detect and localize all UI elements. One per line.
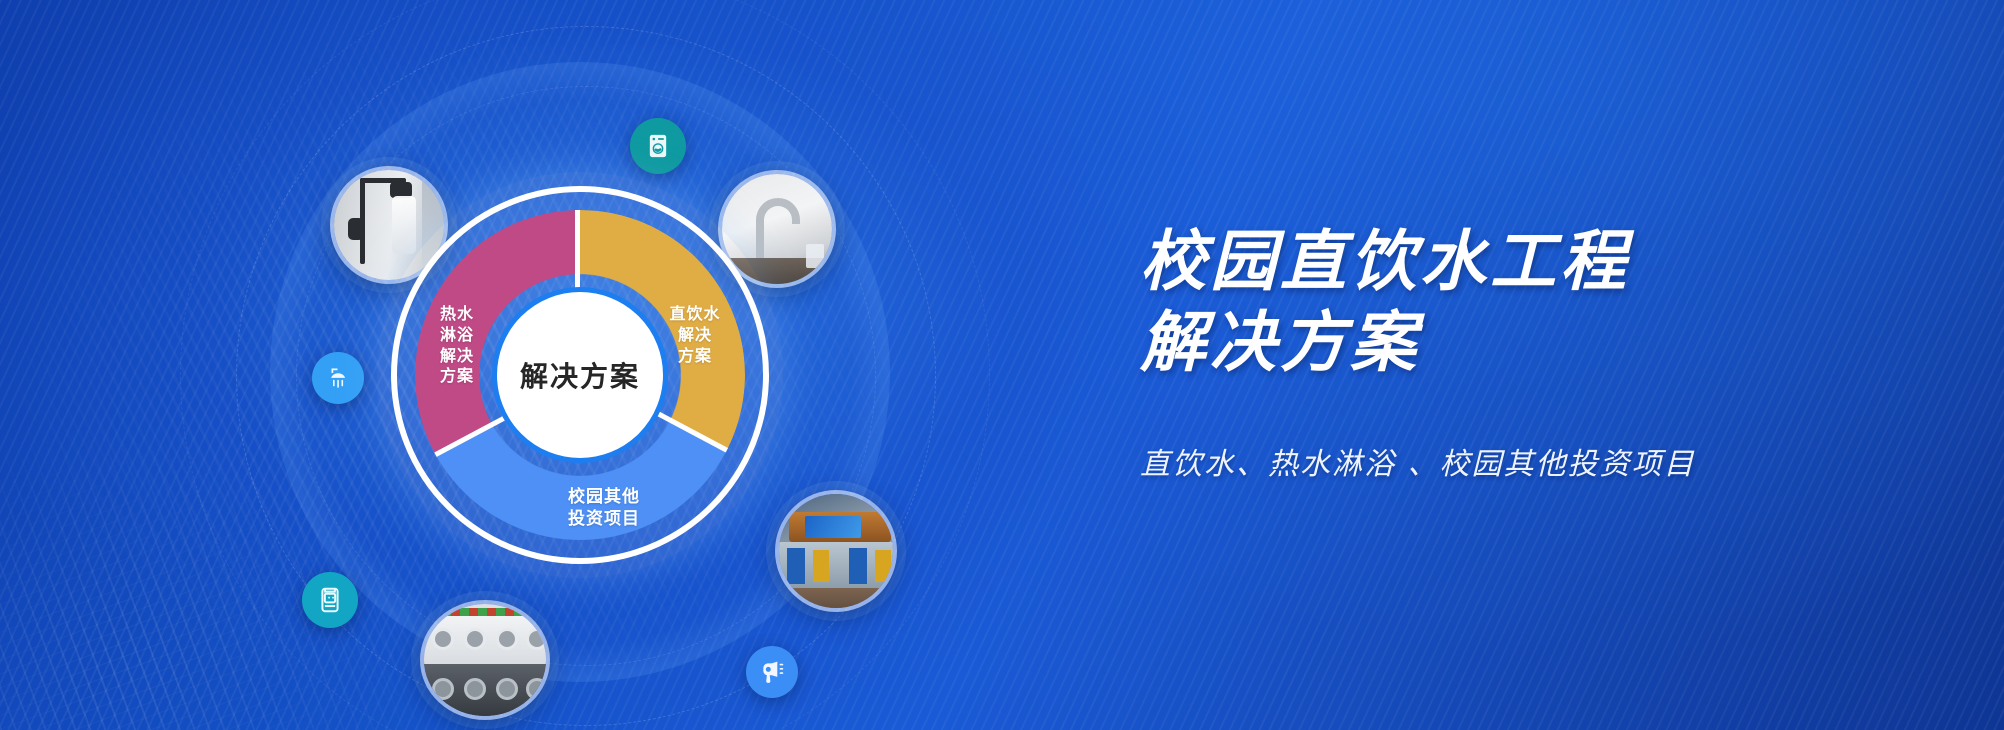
banner-copy: 校园直饮水工程 解决方案 直饮水、热水淋浴 、校园其他投资项目 xyxy=(1140,222,1900,483)
wheel-center-label: 解决方案 xyxy=(520,355,640,395)
shower-head-icon[interactable] xyxy=(312,352,364,404)
hair-dryer-icon[interactable] xyxy=(746,646,798,698)
headline-line-1: 校园直饮水工程 xyxy=(1140,222,1900,303)
promo-banner: 解决方案 热水 淋浴 解决 方案 直饮水 解决 方案 校园其他 投资项目 校园直… xyxy=(0,0,2004,730)
headline-line-2: 解决方案 xyxy=(1140,303,1900,384)
segment-label-hot-water: 热水 淋浴 解决 方案 xyxy=(401,304,513,387)
water-station-photo xyxy=(775,490,897,612)
segment-label-other-investment: 校园其他 投资项目 xyxy=(524,486,684,530)
water-dispenser-icon[interactable] xyxy=(302,572,358,628)
laundry-machines-photo xyxy=(420,600,550,720)
banner-subtitle: 直饮水、热水淋浴 、校园其他投资项目 xyxy=(1140,439,1900,483)
segment-label-drinking-water: 直饮水 解决 方案 xyxy=(639,304,751,366)
solution-wheel: 解决方案 热水 淋浴 解决 方案 直饮水 解决 方案 校园其他 投资项目 xyxy=(415,210,745,540)
washing-machine-icon[interactable] xyxy=(630,118,686,174)
